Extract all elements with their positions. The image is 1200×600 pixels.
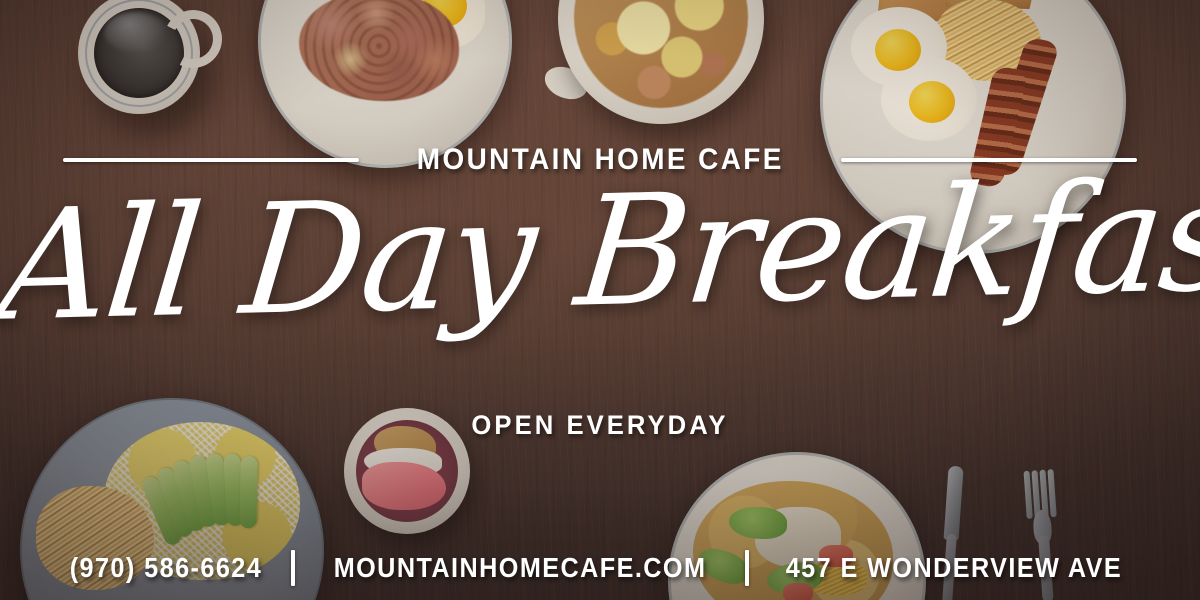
headline: All Day Breakfast!: [0, 161, 1200, 343]
breakfast-ad-banner: MOUNTAIN HOME CAFE All Day Breakfast! OP…: [0, 0, 1200, 600]
footer-separator: [291, 550, 295, 586]
text-overlay: MOUNTAIN HOME CAFE All Day Breakfast! OP…: [0, 0, 1200, 600]
tagline: OPEN EVERYDAY: [30, 412, 1170, 439]
street-address[interactable]: 457 E WONDERVIEW AVE: [786, 554, 1122, 582]
footer-separator: [745, 550, 749, 586]
phone-number[interactable]: (970) 586-6624: [70, 554, 262, 582]
divider-rule-left: [63, 158, 359, 162]
contact-footer: (970) 586-6624 MOUNTAINHOMECAFE.COM 457 …: [0, 550, 1200, 586]
website-url[interactable]: MOUNTAINHOMECAFE.COM: [334, 554, 707, 582]
